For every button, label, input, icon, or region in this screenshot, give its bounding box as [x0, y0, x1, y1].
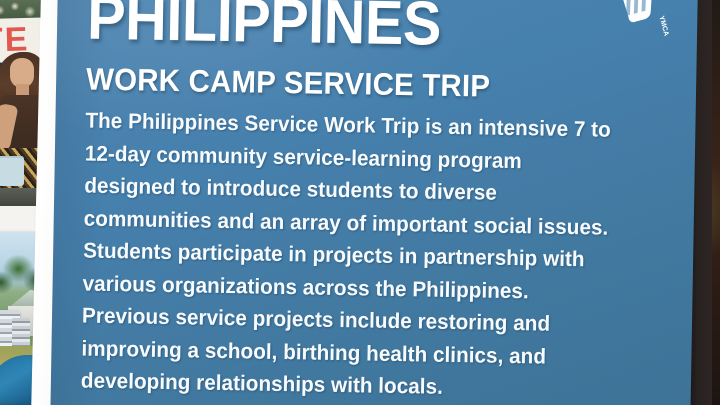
water-tank-small	[12, 318, 30, 348]
panel-content: YMCA PHILIPPINES WORK CAMP SERVICE TRIP …	[80, 0, 688, 405]
poster-screenshot: TE	[0, 0, 720, 405]
poster-body-text: The Philippines Service Work Trip is an …	[81, 105, 686, 405]
blue-content-panel: YMCA PHILIPPINES WORK CAMP SERVICE TRIP …	[50, 0, 698, 405]
ymca-wordmark: YMCA	[657, 15, 669, 37]
page-title: PHILIPPINES	[87, 0, 442, 55]
page-subtitle: WORK CAMP SERVICE TRIP	[86, 63, 491, 104]
subject-bag	[0, 156, 24, 186]
ymca-logo: YMCA	[621, 0, 674, 43]
